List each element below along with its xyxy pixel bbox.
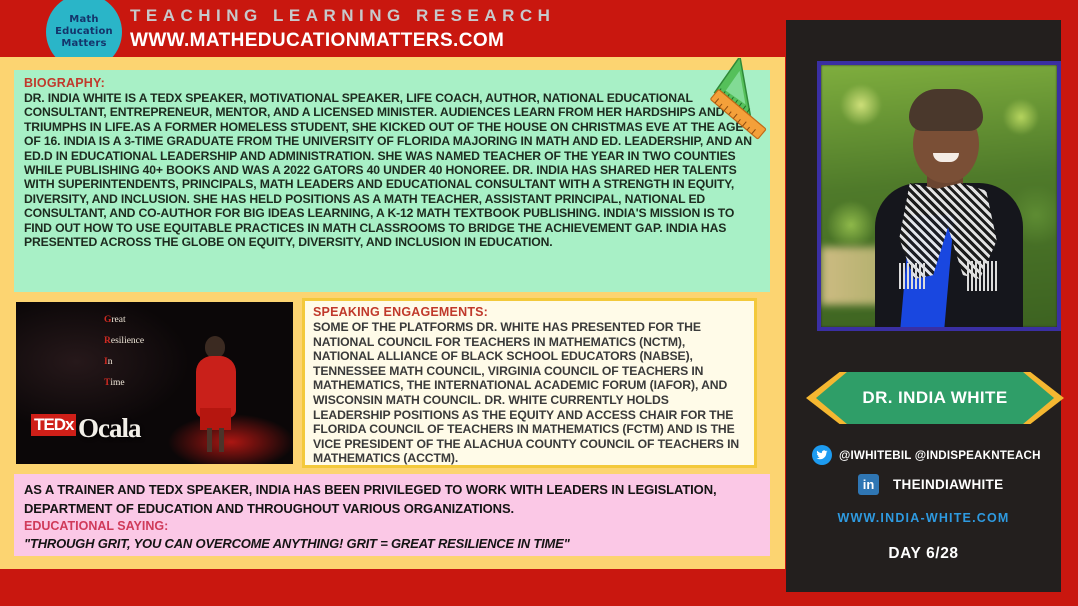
day-counter-label: DAY 6/28 (786, 545, 1061, 563)
trainer-body: AS A TRAINER AND TEDX SPEAKER, INDIA HAS… (24, 480, 760, 518)
tedx-brand-block: TEDx (31, 414, 76, 436)
grit-word-time: ime (110, 378, 124, 388)
silhouette-leg-right (219, 428, 224, 452)
silhouette-head (205, 336, 225, 358)
speaker-name-banner: DR. INDIA WHITE (816, 372, 1054, 424)
linkedin-handle-label: THEINDIAWHITE (893, 477, 1003, 492)
grit-word-great: reat (111, 315, 125, 325)
speaker-portrait-photo (817, 61, 1061, 331)
header-website-url[interactable]: WWW.MATHEDUCATIONMATTERS.COM (130, 30, 504, 52)
tedx-slide-grit-acronym: Great Resilience In Time (104, 310, 144, 394)
portrait-hair (909, 89, 983, 131)
biography-heading: BIOGRAPHY: (24, 76, 760, 90)
grit-word-in: n (108, 357, 113, 367)
biography-body: DR. INDIA WHITE IS A TEDX SPEAKER, MOTIV… (24, 91, 760, 249)
tedx-stage-photo: Great Resilience In Time TEDx Ocala (14, 300, 295, 466)
logo-line-3: Matters (61, 38, 106, 50)
header-bar: Math Education Matters TEACHING LEARNING… (0, 0, 790, 57)
twitter-handles-row[interactable]: @IWHITEBIL @INDISPEAKNTEACH (812, 444, 1058, 466)
grit-word-resilience: esilience (111, 336, 144, 346)
tedx-brand-label: TEDx (31, 414, 76, 436)
linkedin-icon[interactable]: in (858, 474, 879, 495)
biography-section: BIOGRAPHY: DR. INDIA WHITE IS A TEDX SPE… (14, 70, 770, 292)
tedx-speaker-silhouette (193, 336, 239, 452)
trainer-saying-section: AS A TRAINER AND TEDX SPEAKER, INDIA HAS… (14, 474, 770, 556)
silhouette-skirt (200, 408, 231, 430)
educational-saying-quote: "THROUGH GRIT, YOU CAN OVERCOME ANYTHING… (24, 536, 760, 551)
portrait-scarf-fringe-left (899, 263, 925, 289)
portrait-scarf-fringe-right (967, 261, 997, 291)
poster-canvas: Math Education Matters TEACHING LEARNING… (0, 0, 1078, 606)
logo-line-1: Math (69, 14, 98, 26)
twitter-icon[interactable] (812, 445, 832, 465)
speaking-engagements-body: SOME OF THE PLATFORMS DR. WHITE HAS PRES… (313, 320, 746, 466)
educational-saying-heading: EDUCATIONAL SAYING: (24, 519, 760, 533)
speaking-engagements-section: SPEAKING ENGAGEMENTS: SOME OF THE PLATFO… (302, 298, 757, 468)
twitter-handles-label: @IWHITEBIL @INDISPEAKNTEACH (839, 449, 1041, 462)
tedx-stage-background (16, 302, 293, 464)
linkedin-row[interactable]: in THEINDIAWHITE (858, 472, 1068, 496)
silhouette-leg-left (207, 428, 212, 452)
speaking-engagements-heading: SPEAKING ENGAGEMENTS: (313, 305, 746, 319)
grit-initial-r: R (104, 336, 111, 346)
profile-website-link[interactable]: WWW.INDIA-WHITE.COM (786, 511, 1061, 525)
speaker-name-label: DR. INDIA WHITE (862, 388, 1007, 408)
tedx-city-label: Ocala (78, 413, 141, 444)
header-tagline: TEACHING LEARNING RESEARCH (130, 6, 555, 26)
logo-line-2: Education (55, 26, 113, 38)
